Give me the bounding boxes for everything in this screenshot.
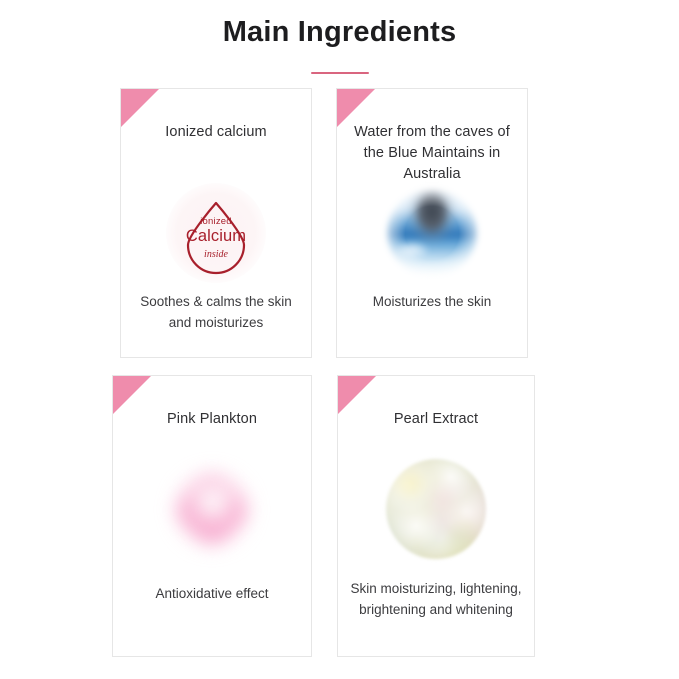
pearl-extract-photo [385,458,487,560]
cave-water-photo [377,183,487,283]
card-title: Pearl Extract [346,409,526,430]
card-title: Water from the caves of the Blue Maintai… [345,122,519,185]
card-description: Moisturizes the skin [347,292,517,313]
card-title: Pink Plankton [121,409,303,430]
card-description: Skin moisturizing, lightening, brighteni… [348,579,524,621]
ingredient-card-grid: Ionized calcium ionized Calcium inside S… [0,0,679,679]
ingredient-card-ionized-calcium[interactable]: Ionized calcium ionized Calcium inside S… [120,88,312,358]
ingredient-card-pearl-extract[interactable]: Pearl Extract Skin moisturizing, lighten… [337,375,535,657]
card-title: Ionized calcium [129,122,303,143]
card-description: Antioxidative effect [123,584,301,605]
ingredient-card-cave-water[interactable]: Water from the caves of the Blue Maintai… [336,88,528,358]
ingredient-card-pink-plankton[interactable]: Pink Plankton Antioxidative effect [112,375,312,657]
card-description: Soothes & calms the skin and moisturizes [131,292,301,334]
calcium-droplet-icon [166,183,266,283]
ionized-calcium-logo: ionized Calcium inside [166,183,266,283]
ingredients-page: Main Ingredients Ionized calcium ionized… [0,0,679,679]
pink-plankton-photo [162,458,262,562]
